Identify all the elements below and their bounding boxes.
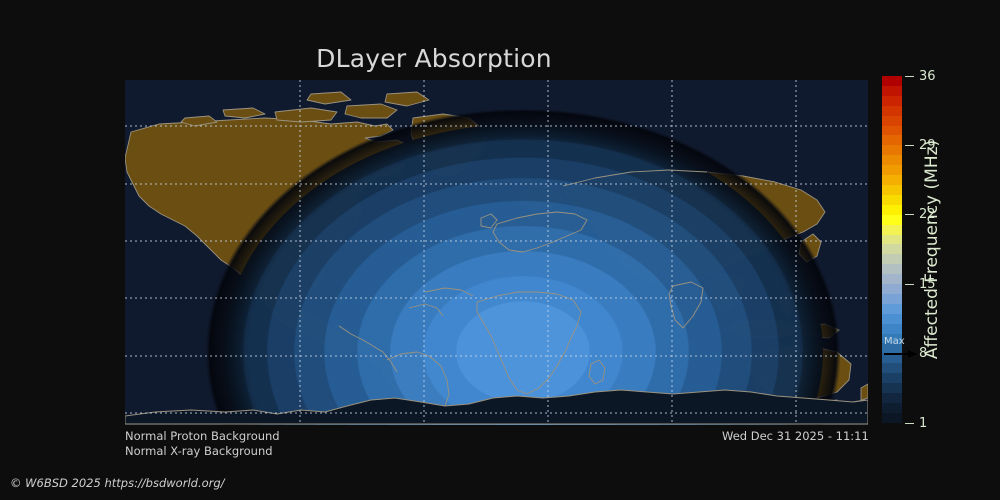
colorbar-band — [882, 185, 902, 195]
copyright-footer: © W6BSD 2025 https://bsdworld.org/ — [10, 478, 225, 490]
colorbar-band — [882, 235, 902, 245]
colorbar-band — [882, 215, 902, 225]
max-marker-label: Max — [884, 337, 905, 347]
status-notes: Normal Proton Background Normal X-ray Ba… — [125, 429, 280, 459]
colorbar-band — [882, 383, 902, 393]
colorbar-gradient[interactable] — [882, 76, 902, 423]
right-arrow-icon — [884, 350, 918, 359]
colorbar-band — [882, 225, 902, 235]
colorbar-band — [882, 135, 902, 145]
colorbar-band — [882, 373, 902, 383]
colorbar-band — [882, 324, 902, 334]
colorbar-band — [882, 294, 902, 304]
colorbar-band — [882, 76, 902, 86]
colorbar-band — [882, 195, 902, 205]
map-canvas — [125, 80, 868, 425]
colorbar-axis-label: Affected Frequency (MHz) — [918, 76, 948, 423]
colorbar-band — [882, 284, 902, 294]
colorbar-band — [882, 96, 902, 106]
page-title: DLayer Absorption — [0, 46, 868, 71]
colorbar-band — [882, 106, 902, 116]
world-map-plot[interactable] — [125, 80, 868, 425]
colorbar-band — [882, 155, 902, 165]
colorbar-band — [882, 165, 902, 175]
colorbar-band — [882, 413, 902, 423]
colorbar-axis-label-text: Affected Frequency (MHz) — [925, 140, 942, 359]
timestamp: Wed Dec 31 2025 - 11:11 — [722, 431, 869, 443]
colorbar-band — [882, 393, 902, 403]
colorbar-band — [882, 403, 902, 413]
colorbar-band — [882, 145, 902, 155]
colorbar-band — [882, 314, 902, 324]
max-marker: Max — [883, 337, 929, 363]
colorbar-band — [882, 175, 902, 185]
colorbar-band — [882, 126, 902, 136]
dlayer-absorption-page: DLayer Absorption — [0, 0, 1000, 500]
colorbar-band — [882, 304, 902, 314]
colorbar-band — [882, 254, 902, 264]
colorbar-band — [882, 116, 902, 126]
colorbar-band — [882, 244, 902, 254]
xray-background-status: Normal X-ray Background — [125, 444, 280, 459]
colorbar-band — [882, 86, 902, 96]
colorbar-band — [882, 205, 902, 215]
proton-background-status: Normal Proton Background — [125, 429, 280, 444]
colorbar-band — [882, 274, 902, 284]
colorbar-band — [882, 264, 902, 274]
colorbar-band — [882, 363, 902, 373]
